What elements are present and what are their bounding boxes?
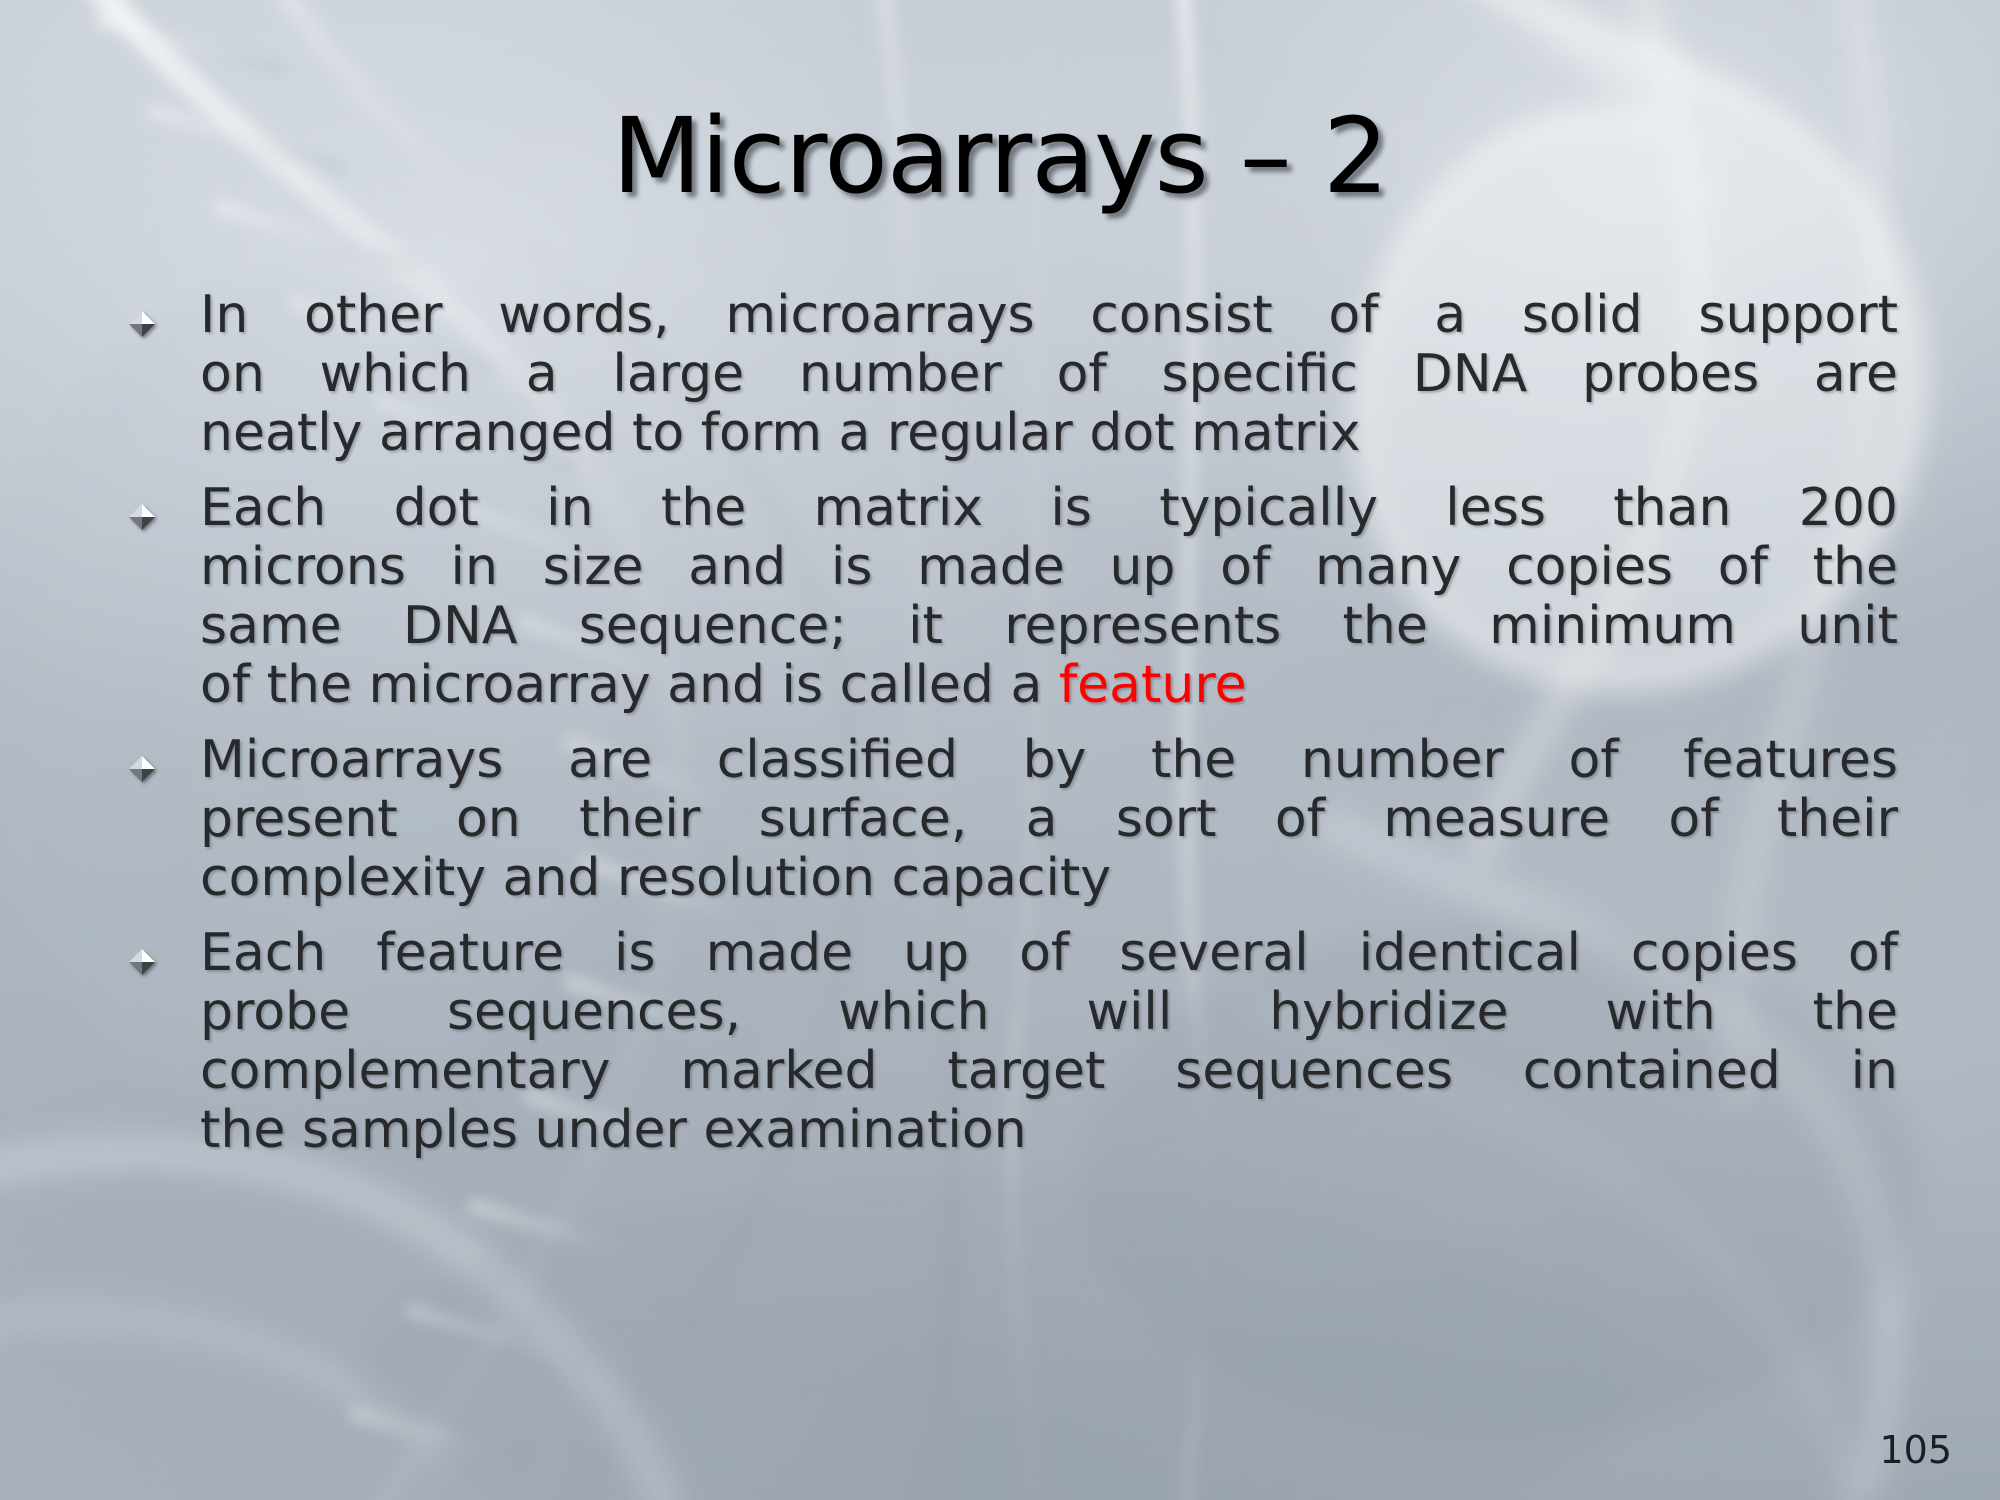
bullet-line-text: of the microarray and is called a: [200, 655, 1059, 715]
bullet-line: Each feature is made up of several ident…: [200, 924, 1898, 983]
bullet-line: complexity and resolution capacity: [200, 849, 1898, 908]
bullet-line: microns in size and is made up of many c…: [200, 538, 1898, 597]
bullet-line: Each dot in the matrix is typically less…: [200, 479, 1898, 538]
diamond-bullet-icon: [126, 479, 200, 533]
bullet-line: on which a large number of specific DNA …: [200, 345, 1898, 404]
bullet-line: Microarrays are classified by the number…: [200, 731, 1898, 790]
bullet-item-4: Each feature is made up of several ident…: [126, 924, 1898, 1160]
page-number: 105: [1879, 1428, 1952, 1472]
slide-body: In other words, microarrays consist of a…: [126, 286, 1898, 1176]
bullet-text-2: Each dot in the matrix is typically less…: [200, 479, 1898, 715]
bullet-line: In other words, microarrays consist of a…: [200, 286, 1898, 345]
bullet-line: neatly arranged to form a regular dot ma…: [200, 404, 1898, 463]
bullet-line: present on their surface, a sort of meas…: [200, 790, 1898, 849]
bullet-line: complementary marked target sequences co…: [200, 1042, 1898, 1101]
bullet-text-3: Microarrays are classified by the number…: [200, 731, 1898, 908]
slide-title: Microarrays – 2: [0, 104, 2000, 208]
bullet-line: probe sequences, which will hybridize wi…: [200, 983, 1898, 1042]
highlight-term-feature: feature: [1059, 655, 1247, 715]
bullet-item-3: Microarrays are classified by the number…: [126, 731, 1898, 908]
bullet-line-with-highlight: of the microarray and is called a featur…: [200, 656, 1898, 715]
diamond-bullet-icon: [126, 731, 200, 785]
bullet-line: the samples under examination: [200, 1101, 1898, 1160]
bullet-line: same DNA sequence; it represents the min…: [200, 597, 1898, 656]
bullet-text-1: In other words, microarrays consist of a…: [200, 286, 1898, 463]
bullet-item-2: Each dot in the matrix is typically less…: [126, 479, 1898, 715]
diamond-bullet-icon: [126, 924, 200, 978]
diamond-bullet-icon: [126, 286, 200, 340]
presentation-slide: Microarrays – 2 In other words, microarr…: [0, 0, 2000, 1500]
bullet-text-4: Each feature is made up of several ident…: [200, 924, 1898, 1160]
bullet-item-1: In other words, microarrays consist of a…: [126, 286, 1898, 463]
